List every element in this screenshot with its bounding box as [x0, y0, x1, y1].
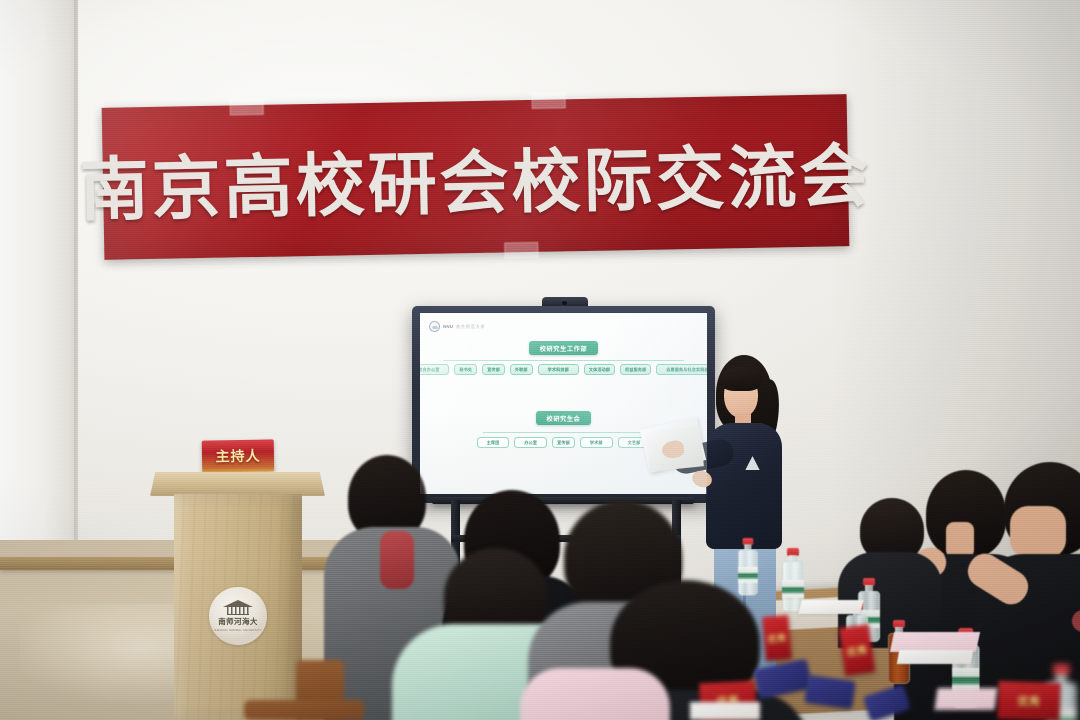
conference-room-photo: 南京高校研会校际交流会 NNU 南京师范大学 校研究生工作部 — [0, 0, 1080, 720]
org-node: 学术部 — [580, 437, 613, 448]
org-node: 外联部 — [510, 364, 533, 375]
torso-pink — [520, 668, 670, 720]
org-node: 办公室 — [514, 437, 547, 448]
university-seal-icon — [429, 321, 440, 332]
paper-stack — [690, 702, 760, 720]
host-sign: 主持人 — [202, 439, 275, 472]
lectern-body: 南师河海大 NANJING NORMAL UNIVERSITY — [174, 494, 302, 720]
org-connector-1 — [443, 360, 684, 361]
name-tent-card: 优秀 — [839, 624, 875, 676]
pavilion-icon — [223, 600, 253, 615]
slide-logo-subtitle: 南京师范大学 — [456, 324, 485, 330]
org-node: 文体活动部 — [584, 364, 615, 375]
org-group-1-title: 校研究生工作部 — [529, 341, 599, 355]
org-group-1: 校研究生工作部 综合办公室 秘书处 宣传部 外联部 学术科技部 文体活动部 权益… — [420, 341, 707, 375]
org-node: 主席团 — [477, 437, 510, 448]
org-node: 权益服务部 — [620, 364, 651, 375]
collar — [380, 531, 414, 589]
name-tent-text: 优秀 — [846, 641, 869, 659]
presenter-fringe — [720, 367, 762, 391]
org-node: 宣传部 — [482, 364, 505, 375]
paper-stack-pink — [934, 688, 997, 710]
paper-stack — [798, 600, 863, 614]
audience-member-6 — [520, 640, 670, 720]
org-row-1: 综合办公室 秘书处 宣传部 外联部 学术科技部 文体活动部 权益服务部 志愿服务… — [420, 364, 707, 375]
name-tent-card: 优秀 — [997, 681, 1060, 720]
name-tent-text: 优秀 — [767, 631, 787, 646]
banner-title: 南京高校研会校际交流会 — [102, 94, 850, 260]
display-bezel: NNU 南京师范大学 校研究生工作部 综合办公室 秘书处 宣传部 外联部 学术科… — [412, 306, 715, 503]
chair-seat — [244, 700, 364, 720]
face — [1010, 506, 1066, 558]
org-node: 综合办公室 — [420, 364, 449, 375]
name-tent-text: 优秀 — [1017, 693, 1041, 710]
bottle-label — [738, 567, 758, 583]
slide-logo-abbr: NNU — [443, 324, 453, 329]
paper-stack — [897, 650, 973, 664]
school-emblem: 南师河海大 NANJING NORMAL UNIVERSITY — [209, 587, 267, 645]
org-node: 学术科技部 — [538, 364, 579, 375]
org-node: 宣传部 — [552, 437, 575, 448]
org-node: 秘书处 — [454, 364, 477, 375]
slide-logo: NNU 南京师范大学 — [429, 321, 486, 332]
org-group-2-title: 校研究生会 — [536, 411, 592, 425]
host-sign-text: 主持人 — [215, 446, 260, 467]
paper-stack-pink — [890, 632, 980, 652]
bottle-label — [782, 580, 804, 598]
interactive-display[interactable]: NNU 南京师范大学 校研究生工作部 综合办公室 秘书处 宣传部 外联部 学术科… — [412, 306, 715, 503]
lectern-top — [150, 472, 325, 496]
emblem-name-cn: 南师河海大 — [218, 616, 258, 627]
face — [946, 522, 974, 558]
water-bottle — [738, 538, 758, 596]
org-connector-2 — [483, 432, 644, 433]
name-tent-card: 优秀 — [762, 615, 792, 661]
emblem-name-en: NANJING NORMAL UNIVERSITY — [214, 628, 261, 632]
event-banner: 南京高校研会校际交流会 — [102, 94, 850, 260]
